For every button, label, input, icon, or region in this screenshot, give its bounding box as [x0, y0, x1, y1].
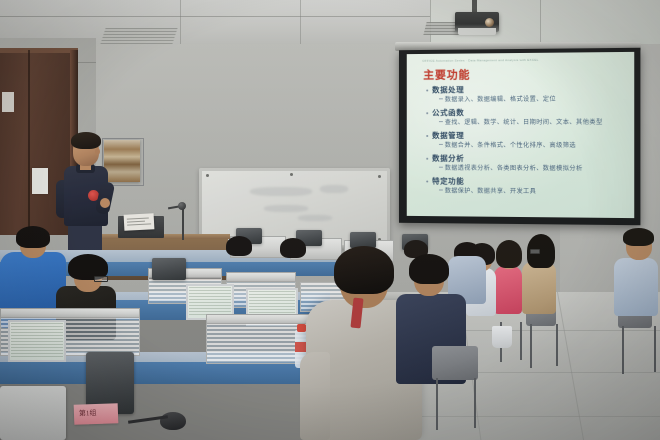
presenter-hair	[71, 132, 101, 149]
slide-section-detail: 数据录入、数据编辑、格式设置、定位	[445, 94, 556, 103]
computer-tower	[0, 386, 66, 440]
audience-person-hair	[334, 246, 394, 294]
monitor-content	[11, 323, 63, 359]
lecture-notes-paper	[124, 213, 155, 231]
slide-dash-icon	[439, 98, 443, 99]
slide-section-detail: 查找、逻辑、数学、统计、日期时间、文本、其他类型	[445, 117, 603, 126]
chair-leg	[556, 324, 558, 366]
desk-label-text: 第1组	[74, 403, 118, 419]
audience-person-hair	[496, 240, 522, 268]
wall-art-panel	[104, 140, 140, 182]
audience-person-torso	[614, 258, 658, 316]
wall-notice-paper	[2, 92, 14, 112]
paper-text-line	[127, 221, 145, 223]
classroom-photo: OFFICE Automation Series · Data Manageme…	[0, 0, 660, 440]
slide-title: 主要功能	[423, 66, 470, 82]
whiteboard-marking	[320, 185, 348, 193]
audience-person-hair	[280, 238, 306, 258]
desk-partition	[0, 308, 140, 318]
cabinet-door-seam	[28, 50, 30, 235]
desk-partition	[226, 272, 296, 282]
slide-dash-icon	[439, 189, 443, 190]
folding-chair	[432, 346, 478, 380]
chair-leg	[530, 324, 532, 368]
cabinet-top	[0, 48, 78, 53]
chair-leg	[474, 378, 476, 428]
audience-person-hair	[409, 254, 449, 284]
wall-notice-paper	[32, 168, 48, 194]
slide-bullet-icon	[426, 135, 428, 137]
slide-dash-icon	[439, 167, 443, 168]
crt-monitor	[152, 258, 186, 280]
slide-bullet-icon	[426, 181, 428, 183]
chair-leg	[622, 326, 624, 374]
paper-text-line	[127, 223, 151, 225]
projector-lens-icon	[485, 18, 494, 27]
slide-dash-icon	[439, 121, 443, 122]
desk-label-card: 第1组	[74, 403, 119, 425]
ceiling-grid-line	[180, 0, 181, 46]
eyeglasses-icon	[94, 276, 108, 282]
ceiling-grid-line	[300, 0, 301, 46]
bottle-cap	[297, 324, 306, 332]
audience-person-hair	[623, 228, 654, 246]
slide-bullet-icon	[426, 112, 428, 114]
audience-person-torso	[494, 266, 522, 314]
audience-person-torso	[522, 262, 556, 314]
monitor-content	[189, 287, 231, 317]
computer-monitor-screen	[8, 320, 66, 362]
paper-text-line	[127, 217, 149, 219]
chair-leg	[520, 322, 522, 360]
whiteboard-screw	[206, 174, 209, 177]
whiteboard-screw	[290, 173, 293, 176]
desk-side-panel	[0, 362, 340, 384]
microphone-icon	[178, 202, 186, 210]
whiteboard-marking	[298, 215, 332, 221]
chair-leg	[654, 326, 656, 372]
projector-base	[458, 28, 496, 35]
whiteboard-marking	[250, 187, 312, 196]
floor-bag	[492, 326, 512, 348]
ceiling-vent-icon	[100, 28, 177, 44]
audience-person-hair	[16, 226, 50, 248]
slide-bullet-icon	[426, 158, 428, 160]
eyeglasses-icon	[530, 249, 540, 254]
chair-leg	[436, 378, 438, 430]
ceiling-seam	[0, 16, 430, 17]
audience-person-arm	[300, 352, 330, 440]
slide-dash-icon	[439, 144, 443, 145]
whiteboard-screw	[378, 175, 381, 178]
slide-section-detail: 数据保护、数据共享、开发工具	[445, 186, 536, 196]
audience-person-hair	[226, 236, 252, 256]
presenter-hand	[100, 198, 110, 208]
projection-screen: OFFICE Automation Series · Data Manageme…	[407, 52, 634, 218]
slide-bullet-icon	[426, 89, 428, 91]
whiteboard-marking	[264, 205, 308, 212]
slide-section-detail: 数据合并、条件格式、个性化排序、高级筛选	[445, 140, 576, 149]
slide-section-detail: 数据透视表分析、各类图表分析、数据模拟分析	[445, 163, 583, 173]
microphone-stand	[182, 206, 184, 240]
presenter-ear	[95, 148, 100, 155]
